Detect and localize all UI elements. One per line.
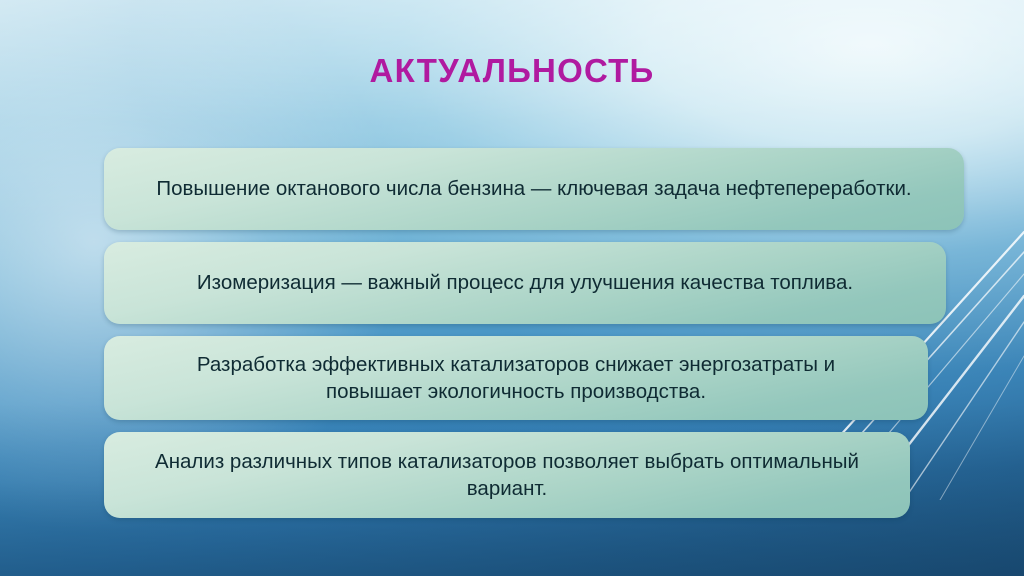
list-item: Анализ различных типов катализаторов поз… — [104, 432, 910, 518]
list-item: Разработка эффективных катализаторов сни… — [104, 336, 928, 420]
page-title: АКТУАЛЬНОСТЬ — [0, 52, 1024, 90]
list-item-text: Повышение октанового числа бензина — клю… — [150, 175, 918, 202]
list-item-text: Анализ различных типов катализаторов поз… — [150, 448, 864, 503]
list-item: Изомеризация — важный процесс для улучше… — [104, 242, 946, 324]
slide: АКТУАЛЬНОСТЬ Повышение октанового числа … — [0, 0, 1024, 576]
list-item-text: Разработка эффективных катализаторов сни… — [150, 351, 882, 406]
list-item-text: Изомеризация — важный процесс для улучше… — [150, 269, 900, 296]
list-item: Повышение октанового числа бензина — клю… — [104, 148, 964, 230]
bullet-card-list: Повышение октанового числа бензина — клю… — [104, 148, 964, 518]
